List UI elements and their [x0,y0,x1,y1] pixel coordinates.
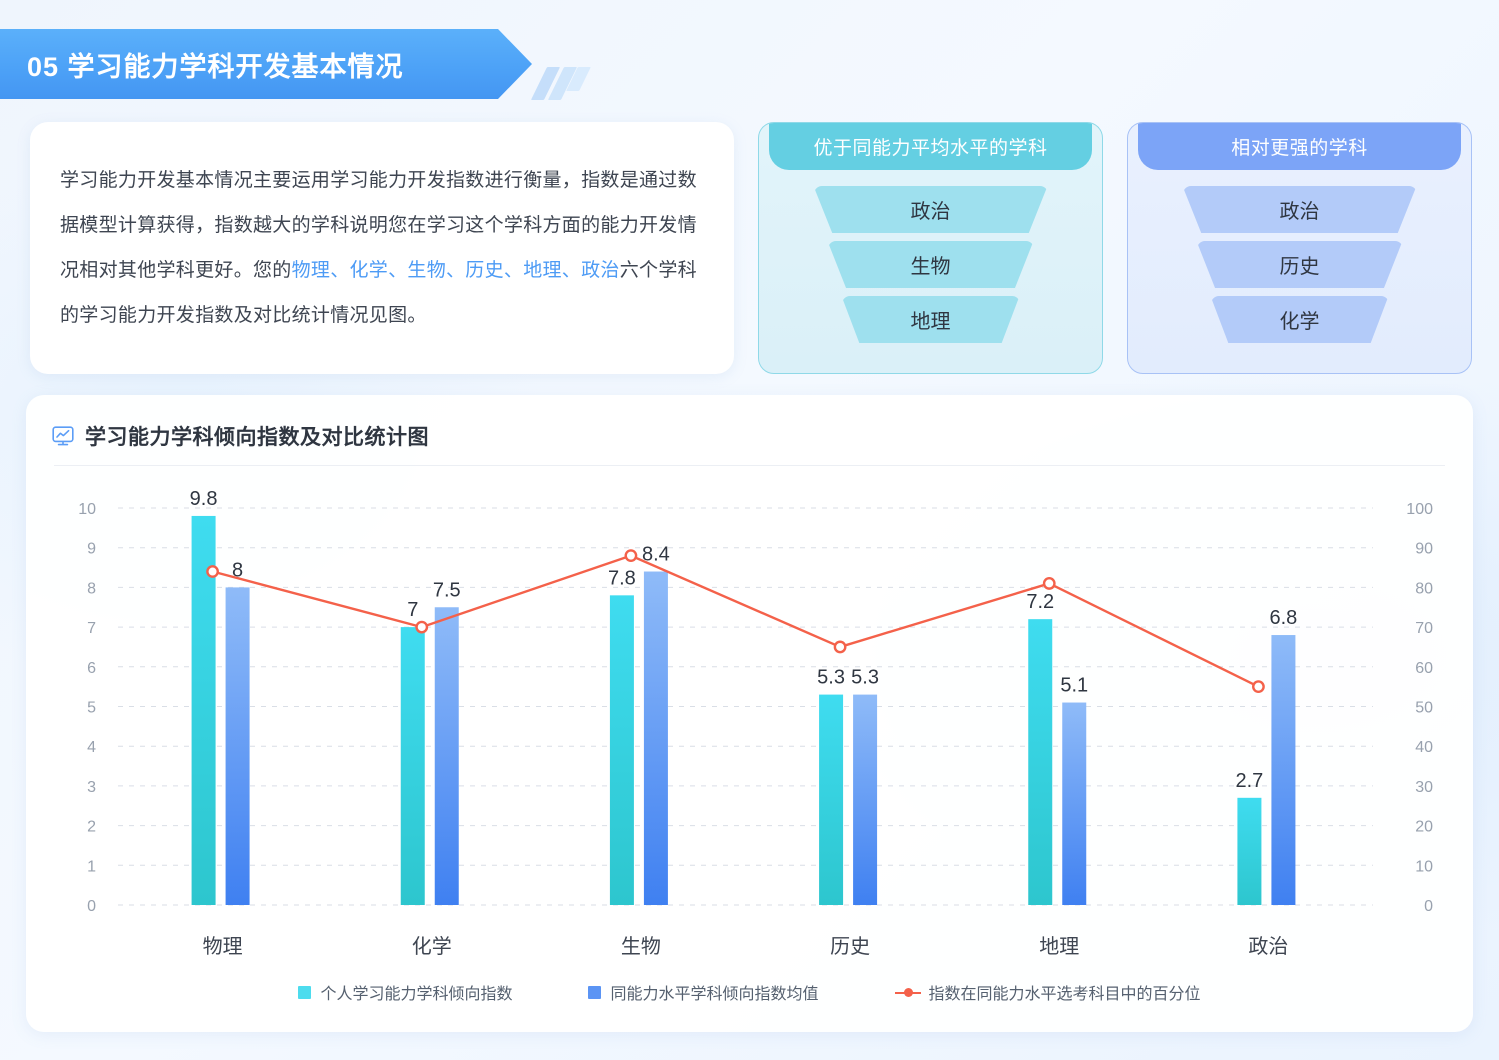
top-row: 学习能力开发基本情况主要运用学习能力开发指数进行衡量，指数是通过数据模型计算获得… [30,122,1473,374]
funnel-item-label: 历史 [1280,250,1320,279]
info-highlight-subjects: 物理、化学、生物、历史、地理、政治 [292,260,620,281]
y-axis-right-tick: 60 [1415,660,1433,677]
bar-value-label: 7.5 [433,579,461,601]
y-axis-right-tick: 90 [1415,541,1433,558]
legend-item-personal-index[interactable]: 个人学习能力学科倾向指数 [298,980,512,1004]
y-axis-right-tick: 100 [1406,501,1433,518]
line-point-marker[interactable] [207,566,217,576]
info-card: 学习能力开发基本情况主要运用学习能力开发指数进行衡量，指数是通过数据模型计算获得… [30,122,734,374]
legend-swatch [588,986,601,999]
bar[interactable] [1028,619,1052,905]
bar-value-label: 9.8 [190,488,218,510]
chart-legend: 个人学习能力学科倾向指数 同能力水平学科倾向指数均值 指数在同能力水平选考科目中… [26,980,1473,1004]
y-axis-left-tick: 4 [87,739,96,756]
legend-label: 同能力水平学科倾向指数均值 [610,980,818,1004]
legend-label: 指数在同能力水平选考科目中的百分位 [929,980,1201,1004]
y-axis-right-tick: 40 [1415,739,1433,756]
funnel-item-label: 化学 [1280,305,1320,334]
bar[interactable] [435,607,459,905]
banner-title: 05 学习能力学科开发基本情况 [27,45,404,84]
x-axis-tick-label: 物理 [203,935,243,958]
funnel-item: 化学 [1211,296,1389,343]
bar-value-label: 6.8 [1270,607,1298,629]
bar[interactable] [226,587,250,905]
x-axis-tick-label: 化学 [412,935,452,958]
y-axis-left-tick: 1 [87,858,96,875]
chart-panel: 学习能力学科倾向指数及对比统计图 00110220330440550660770… [26,395,1473,1032]
funnel-item: 历史 [1197,241,1403,288]
y-axis-right-tick: 70 [1415,620,1433,637]
section-banner: 05 学习能力学科开发基本情况 [0,29,600,99]
bar-value-label: 5.3 [851,667,879,689]
bar[interactable] [401,627,425,905]
funnel-item-label: 生物 [911,250,951,279]
line-point-marker[interactable] [835,642,845,652]
chart-svg[interactable]: 00110220330440550660770880990101009.88物理… [26,488,1473,988]
funnel-item-label: 政治 [911,195,951,224]
funnel-list: 政治 历史 化学 [1128,170,1471,343]
y-axis-right-tick: 10 [1415,858,1433,875]
legend-label: 个人学习能力学科倾向指数 [320,980,512,1004]
y-axis-left-tick: 0 [87,898,96,915]
funnel-item: 政治 [1183,186,1417,233]
x-axis-tick-label: 地理 [1039,935,1079,958]
legend-item-percentile[interactable]: 指数在同能力水平选考科目中的百分位 [895,980,1201,1004]
bar-value-label: 5.1 [1060,675,1088,697]
funnel-item: 生物 [828,241,1034,288]
line-point-marker[interactable] [1044,578,1054,588]
plot-area: 00110220330440550660770880990101009.88物理… [26,488,1473,988]
card-above-average-subjects: 优于同能力平均水平的学科 政治 生物 地理 [758,122,1103,374]
bar[interactable] [1062,703,1086,905]
funnel-item: 地理 [842,296,1020,343]
chart-header: 学习能力学科倾向指数及对比统计图 [26,395,1473,455]
line-point-marker[interactable] [1253,681,1263,691]
funnel-list: 政治 生物 地理 [759,170,1102,343]
bar-value-label: 7.8 [608,567,636,589]
y-axis-right-tick: 50 [1415,700,1433,717]
bar[interactable] [1271,635,1295,905]
bar-value-label: 5.3 [817,667,845,689]
bar[interactable] [1237,798,1261,905]
funnel-item-label: 地理 [911,305,951,334]
y-axis-left-tick: 5 [87,700,96,717]
banner-shape: 05 学习能力学科开发基本情况 [0,29,532,99]
bar[interactable] [819,695,843,905]
legend-item-peer-average[interactable]: 同能力水平学科倾向指数均值 [588,980,818,1004]
y-axis-left-tick: 8 [87,580,96,597]
card-title: 优于同能力平均水平的学科 [769,123,1091,170]
bar[interactable] [644,572,668,905]
x-axis-tick-label: 生物 [621,935,661,958]
y-axis-left-tick: 9 [87,541,96,558]
y-axis-left-tick: 6 [87,660,96,677]
y-axis-left-tick: 7 [87,620,96,637]
header-divider [54,465,1445,466]
y-axis-right-tick: 0 [1424,898,1433,915]
line-chart-monitor-icon [51,424,75,448]
y-axis-right-tick: 30 [1415,779,1433,796]
legend-swatch [298,986,311,999]
y-axis-right-tick: 80 [1415,580,1433,597]
card-title: 相对更强的学科 [1138,123,1460,170]
y-axis-left-tick: 3 [87,779,96,796]
legend-line-marker [895,986,921,999]
y-axis-left-tick: 2 [87,819,96,836]
x-axis-tick-label: 政治 [1248,935,1288,958]
info-paragraph: 学习能力开发基本情况主要运用学习能力开发指数进行衡量，指数是通过数据模型计算获得… [60,158,704,338]
bar[interactable] [853,695,877,905]
line-point-marker[interactable] [626,550,636,560]
card-relatively-stronger-subjects: 相对更强的学科 政治 历史 化学 [1127,122,1472,374]
chart-title: 学习能力学科倾向指数及对比统计图 [85,421,429,451]
bar-value-label: 7.2 [1026,591,1054,613]
x-axis-tick-label: 历史 [830,935,870,958]
bar[interactable] [610,595,634,905]
y-axis-right-tick: 20 [1415,819,1433,836]
bar-value-label: 2.7 [1236,770,1264,792]
bar-value-label: 7 [407,599,418,621]
funnel-item: 政治 [814,186,1048,233]
funnel-item-label: 政治 [1280,195,1320,224]
line-point-marker[interactable] [417,622,427,632]
y-axis-left-tick: 10 [78,501,96,518]
